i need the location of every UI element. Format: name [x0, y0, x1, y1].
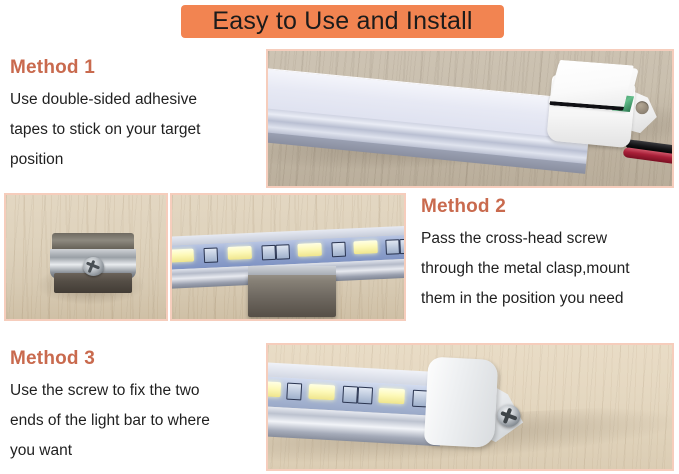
method-2-photo-mounted-bar [170, 193, 406, 321]
method-1-text-block: Method 1 Use double-sided adhesive tapes… [10, 57, 260, 175]
method-3-photo [266, 343, 674, 471]
method-1-photo [266, 49, 674, 188]
method-3-text-block: Method 3 Use the screw to fix the two en… [10, 348, 265, 466]
led-bar [268, 362, 444, 450]
method-2-line-2: through the metal clasp,mount [421, 254, 679, 284]
adhesive-tape [549, 60, 634, 111]
method-3-line-2: ends of the light bar to where [10, 406, 265, 436]
method-2-text-block: Method 2 Pass the cross-head screw throu… [421, 196, 679, 314]
metal-clasp [248, 273, 336, 317]
method-2-heading: Method 2 [421, 196, 679, 218]
method-3-line-1: Use the screw to fix the two [10, 376, 265, 406]
method-2-line-3: them in the position you need [421, 284, 679, 314]
page-title: Easy to Use and Install [212, 7, 472, 36]
method-3-line-3: you want [10, 436, 265, 466]
method-2-photo-clasp [4, 193, 168, 321]
method-3-heading: Method 3 [10, 348, 265, 370]
metal-clasp [50, 233, 136, 295]
white-end-cap [424, 357, 525, 454]
cross-head-screw [83, 257, 104, 276]
title-banner: Easy to Use and Install [181, 5, 504, 38]
method-1-line-2: tapes to stick on your target [10, 115, 260, 145]
method-2-line-1: Pass the cross-head screw [421, 224, 679, 254]
method-1-heading: Method 1 [10, 57, 260, 79]
white-end-cap [546, 55, 650, 150]
infographic-page: Easy to Use and Install Method 1 Use dou… [0, 0, 679, 474]
method-1-line-1: Use double-sided adhesive [10, 85, 260, 115]
method-1-line-3: position [10, 145, 260, 175]
